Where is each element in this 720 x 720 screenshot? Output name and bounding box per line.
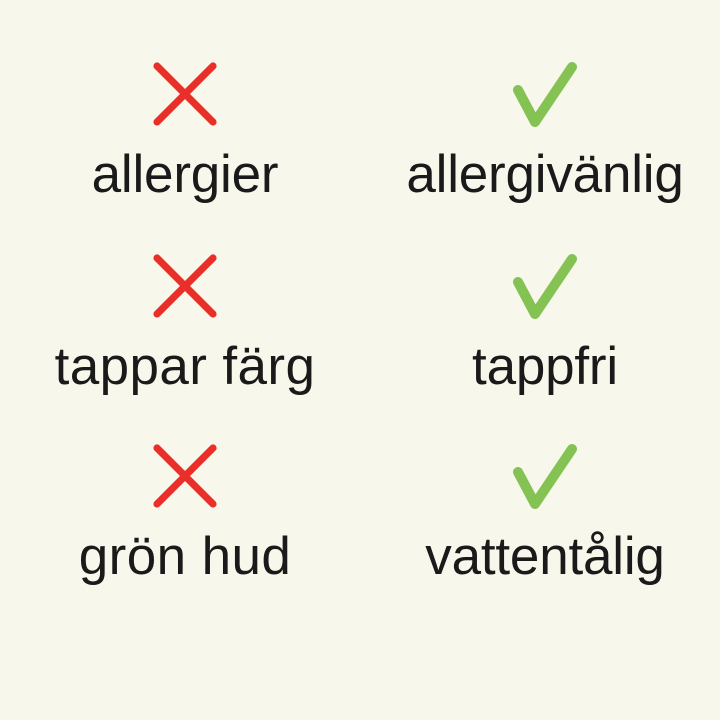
comparison-label-positive: allergivänlig — [406, 144, 683, 206]
comparison-label-negative: allergier — [92, 144, 279, 206]
comparison-cell-positive: tappfri — [360, 254, 720, 398]
comparison-label-positive: tappfri — [472, 336, 618, 398]
check-mark-icon — [513, 62, 577, 138]
comparison-label-positive: vattentålig — [425, 526, 664, 588]
cross-mark-icon — [153, 444, 217, 520]
comparison-cell-positive: vattentålig — [360, 444, 720, 588]
cross-mark-icon — [153, 254, 217, 330]
cross-mark-icon — [153, 62, 217, 138]
comparison-cell-negative: grön hud — [0, 444, 360, 588]
check-mark-icon — [513, 254, 577, 330]
comparison-label-negative: grön hud — [79, 526, 291, 588]
comparison-label-negative: tappar färg — [55, 336, 316, 398]
comparison-cell-positive: allergivänlig — [360, 62, 720, 206]
comparison-cell-negative: tappar färg — [0, 254, 360, 398]
check-mark-icon — [513, 444, 577, 520]
comparison-board: allergier allergivänlig tappar färg — [0, 0, 720, 720]
comparison-cell-negative: allergier — [0, 62, 360, 206]
comparison-row: tappar färg tappfri — [0, 254, 720, 398]
comparison-row: allergier allergivänlig — [0, 62, 720, 206]
comparison-row: grön hud vattentålig — [0, 444, 720, 588]
